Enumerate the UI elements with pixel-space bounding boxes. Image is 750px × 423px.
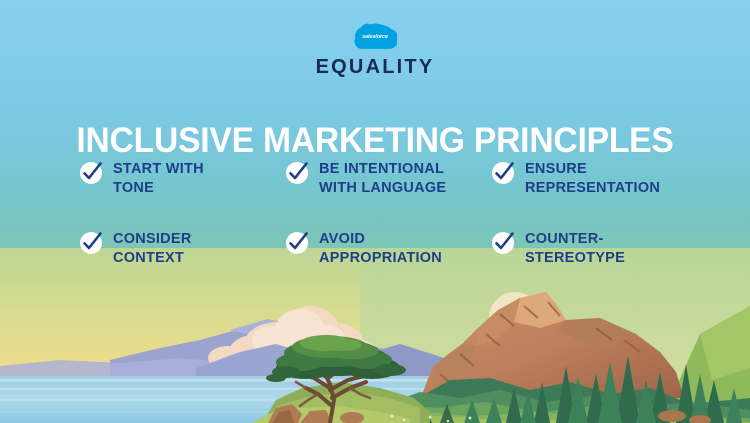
principle-label: ENSURE REPRESENTATION xyxy=(525,158,660,199)
check-circle-icon xyxy=(490,230,516,256)
principles-grid: START WITH TONE BE INTENTIONAL WITH LANG… xyxy=(78,158,678,298)
principle-label: START WITH TONE xyxy=(113,158,204,199)
brand-name: EQUALITY xyxy=(0,57,750,77)
principle-label: BE INTENTIONAL WITH LANGUAGE xyxy=(319,158,446,199)
principle-item-be-intentional-with-language: BE INTENTIONAL WITH LANGUAGE xyxy=(284,158,490,228)
poster-canvas: salesforce EQUALITY INCLUSIVE MARKETING … xyxy=(0,0,750,423)
principle-label: AVOID APPROPRIATION xyxy=(319,228,442,269)
svg-text:salesforce: salesforce xyxy=(362,34,388,40)
principle-item-counter-stereotype: COUNTER- STEREOTYPE xyxy=(490,228,678,298)
page-title: INCLUSIVE MARKETING PRINCIPLES xyxy=(15,123,735,158)
principle-label: COUNTER- STEREOTYPE xyxy=(525,228,625,269)
check-circle-icon xyxy=(78,230,104,256)
salesforce-cloud-logo-icon: salesforce xyxy=(0,22,750,52)
check-circle-icon xyxy=(284,160,310,186)
principle-item-ensure-representation: ENSURE REPRESENTATION xyxy=(490,158,678,228)
principle-label: CONSIDER CONTEXT xyxy=(113,228,192,269)
brand-header: salesforce EQUALITY xyxy=(0,22,750,77)
check-circle-icon xyxy=(78,160,104,186)
principle-item-start-with-tone: START WITH TONE xyxy=(78,158,284,228)
principle-item-avoid-appropriation: AVOID APPROPRIATION xyxy=(284,228,490,298)
principle-item-consider-context: CONSIDER CONTEXT xyxy=(78,228,284,298)
check-circle-icon xyxy=(284,230,310,256)
check-circle-icon xyxy=(490,160,516,186)
